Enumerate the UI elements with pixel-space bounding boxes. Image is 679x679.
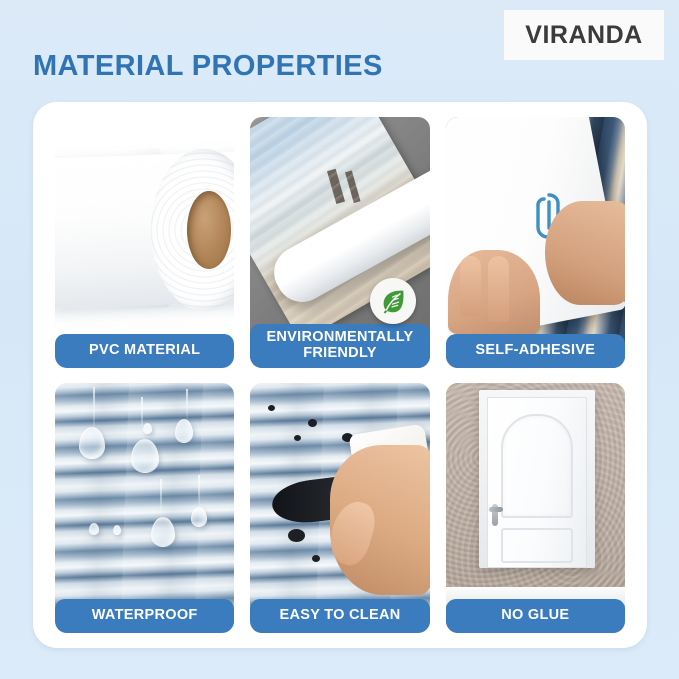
no-glue-image	[446, 383, 625, 634]
feature-card-environmentally-friendly[interactable]: ENVIRONMENTALLY FRIENDLY	[250, 117, 429, 368]
stain-spot	[308, 419, 317, 427]
stain-spot	[288, 529, 305, 542]
stain-spot	[312, 555, 320, 562]
feature-card-self-adhesive[interactable]: SELF-ADHESIVE	[446, 117, 625, 368]
feature-card-no-glue[interactable]: NO GLUE	[446, 383, 625, 634]
wood-grain-pattern	[55, 383, 234, 634]
water-streak	[160, 479, 162, 521]
page-title: MATERIAL PROPERTIES	[33, 50, 383, 83]
infographic-page: VIRANDA MATERIAL PROPERTIES PVC MATERIAL	[0, 0, 679, 679]
stain-spot	[268, 405, 275, 411]
water-streak	[198, 475, 200, 511]
hand-shape	[330, 445, 430, 595]
left-hand-shape	[448, 250, 540, 334]
waterproof-image	[55, 383, 234, 634]
features-panel: PVC MATERIAL	[33, 102, 647, 648]
door-panel-bottom	[501, 528, 573, 563]
water-drop	[113, 525, 121, 535]
feature-card-pvc-material[interactable]: PVC MATERIAL	[55, 117, 234, 368]
easy-to-clean-image	[250, 383, 429, 634]
water-drop	[143, 423, 152, 434]
feature-label-pvc-material: PVC MATERIAL	[55, 334, 234, 368]
brand-logo-box: VIRANDA	[504, 10, 664, 60]
roll-core-shape	[187, 191, 231, 269]
feature-label-easy-to-clean: EASY TO CLEAN	[250, 599, 429, 633]
water-streak	[186, 389, 188, 423]
pvc-roll-image	[55, 117, 234, 368]
right-hand-shape	[545, 201, 625, 305]
feature-label-no-glue: NO GLUE	[446, 599, 625, 633]
door-slab-shape	[487, 397, 587, 568]
door-handle-icon	[492, 504, 498, 526]
door-frame-shape	[479, 390, 595, 568]
feature-label-line2: FRIENDLY	[303, 345, 377, 361]
feature-card-waterproof[interactable]: WATERPROOF	[55, 383, 234, 634]
leaf-icon	[370, 278, 416, 324]
door-panel-top	[501, 414, 573, 518]
feature-label-self-adhesive: SELF-ADHESIVE	[446, 334, 625, 368]
feature-card-easy-to-clean[interactable]: EASY TO CLEAN	[250, 383, 429, 634]
features-grid: PVC MATERIAL	[55, 117, 625, 633]
feature-label-waterproof: WATERPROOF	[55, 599, 234, 633]
brand-logo-text: VIRANDA	[525, 21, 642, 50]
water-drop	[89, 523, 99, 535]
feature-label-environmentally-friendly: ENVIRONMENTALLY FRIENDLY	[250, 324, 429, 368]
feature-label-line1: ENVIRONMENTALLY	[266, 329, 413, 345]
stain-spot	[294, 435, 301, 441]
self-adhesive-image	[446, 117, 625, 368]
